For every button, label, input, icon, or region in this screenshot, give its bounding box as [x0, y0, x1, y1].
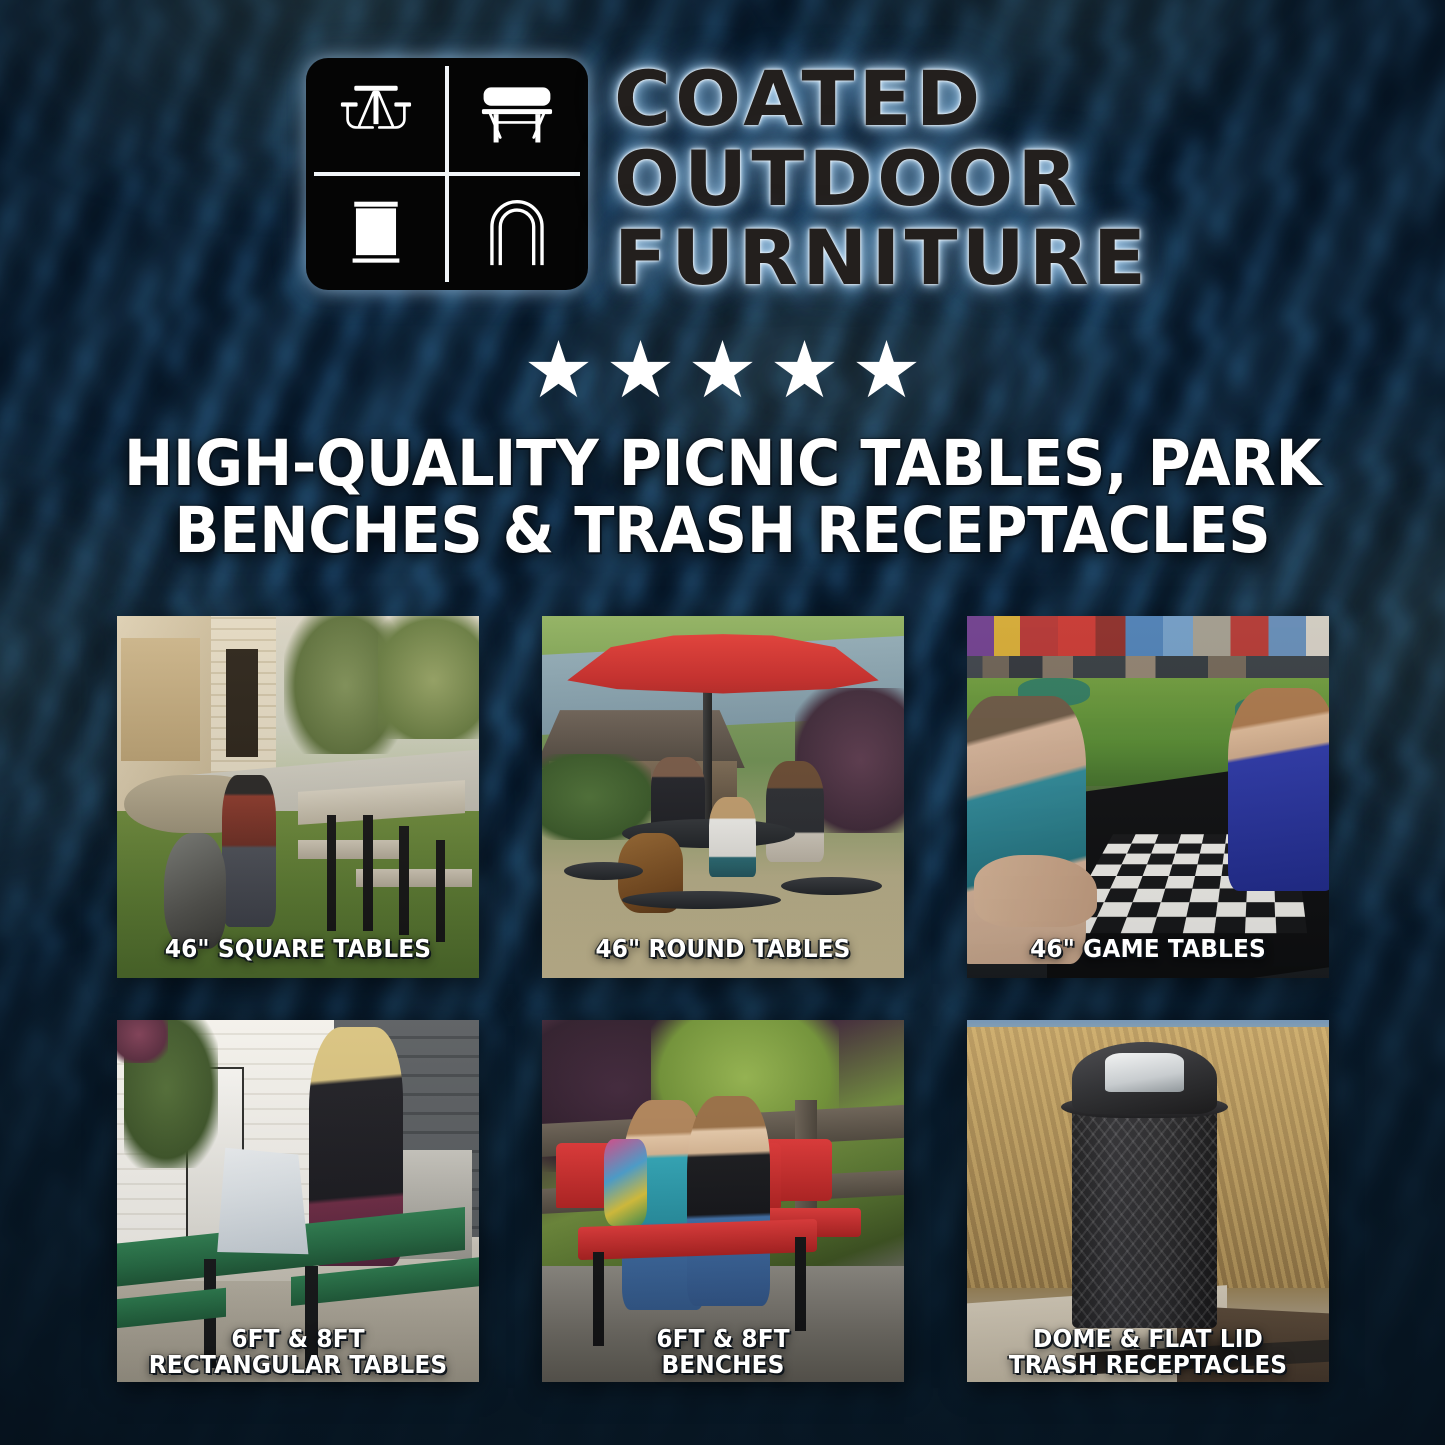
- brand-name-line-3: FURNITURE: [614, 221, 1150, 295]
- star-icon: [856, 340, 918, 402]
- product-photo-square-tables: [117, 616, 479, 978]
- logo-divider-vertical: [445, 66, 449, 282]
- star-icon: [774, 340, 836, 402]
- brand-lockup: COATED OUTDOOR FURNITURE: [0, 58, 1445, 295]
- product-photo-benches: [542, 1020, 904, 1382]
- product-photo-game-tables: [967, 616, 1329, 978]
- headline-line-2: BENCHES & TRASH RECEPTACLES: [94, 497, 1352, 564]
- brand-wordmark: COATED OUTDOOR FURNITURE: [614, 62, 1140, 295]
- product-photo-round-tables: [542, 616, 904, 978]
- headline-line-1: HIGH-QUALITY PICNIC TABLES, PARK: [94, 430, 1352, 497]
- product-tile-trash-receptacles[interactable]: DOME & FLAT LID TRASH RECEPTACLES: [967, 1020, 1329, 1382]
- product-photo-trash-receptacles: [967, 1020, 1329, 1382]
- product-category-grid: 46" SQUARE TABLES: [117, 616, 1328, 1382]
- star-icon: [610, 340, 672, 402]
- star-icon: [528, 340, 590, 402]
- park-bench-icon: [447, 58, 588, 174]
- arch-bench-icon: [447, 174, 588, 290]
- trash-receptacle-icon: [306, 174, 447, 290]
- product-photo-rectangular-tables: [117, 1020, 479, 1382]
- product-tile-rectangular-tables[interactable]: 6FT & 8FT RECTANGULAR TABLES: [117, 1020, 479, 1382]
- picnic-table-icon: [306, 58, 447, 174]
- brand-name-line-2: OUTDOOR: [614, 142, 1150, 216]
- product-tile-game-tables[interactable]: 46" GAME TABLES: [967, 616, 1329, 978]
- four-quadrant-furniture-logo: [306, 58, 588, 290]
- headline: HIGH-QUALITY PICNIC TABLES, PARK BENCHES…: [94, 430, 1352, 565]
- star-rating: [0, 340, 1445, 402]
- promo-graphic: COATED OUTDOOR FURNITURE HIGH-QUALITY PI…: [0, 0, 1445, 1445]
- star-icon: [692, 340, 754, 402]
- product-tile-benches[interactable]: 6FT & 8FT BENCHES: [542, 1020, 904, 1382]
- brand-name-line-1: COATED: [614, 62, 1150, 136]
- product-tile-square-tables[interactable]: 46" SQUARE TABLES: [117, 616, 479, 978]
- product-tile-round-tables[interactable]: 46" ROUND TABLES: [542, 616, 904, 978]
